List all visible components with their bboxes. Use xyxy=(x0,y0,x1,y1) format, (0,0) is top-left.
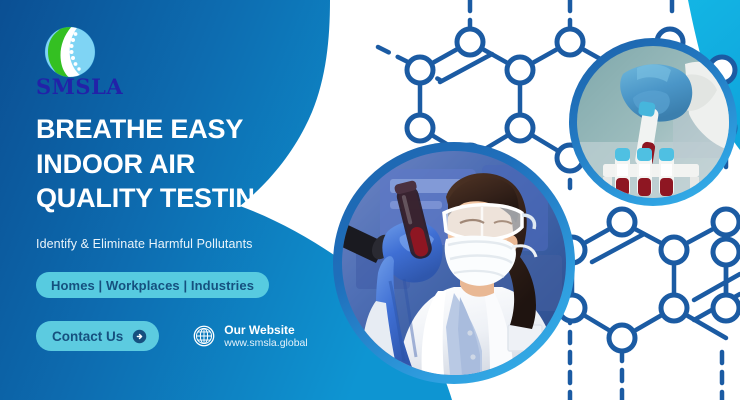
banner: SMSLA BREATHE EASY INDOOR AIR QUALITY TE… xyxy=(0,0,740,400)
contact-us-label: Contact Us xyxy=(52,329,123,344)
website-title: Our Website xyxy=(224,323,307,337)
headline-line-3: QUALITY TESTING xyxy=(36,181,336,216)
audience-badge: Homes | Workplaces | Industries xyxy=(36,272,269,298)
subtitle: Identify & Eliminate Harmful Pollutants xyxy=(36,237,253,251)
brand-logo[interactable]: SMSLA xyxy=(36,26,116,102)
scientist-illustration xyxy=(342,151,566,375)
content-column: SMSLA BREATHE EASY INDOOR AIR QUALITY TE… xyxy=(0,0,330,400)
main-photo-circle xyxy=(333,142,575,384)
smsla-spine-circle-logo-icon xyxy=(44,26,96,78)
secondary-photo-circle xyxy=(569,38,737,206)
website-block[interactable]: Our Website www.smsla.global xyxy=(193,323,307,350)
page-title: BREATHE EASY INDOOR AIR QUALITY TESTING xyxy=(36,112,336,216)
headline-line-1: BREATHE EASY xyxy=(36,112,336,147)
arrow-right-circle-icon xyxy=(132,329,147,344)
headline-line-2: INDOOR AIR xyxy=(36,147,336,182)
blood-sample-illustration xyxy=(577,46,729,198)
website-url: www.smsla.global xyxy=(224,337,307,349)
cta-row: Contact Us Our Website xyxy=(36,320,308,352)
brand-wordmark: SMSLA xyxy=(36,74,114,99)
audience-badge-label: Homes | Workplaces | Industries xyxy=(51,278,254,293)
contact-us-button[interactable]: Contact Us xyxy=(36,321,159,351)
globe-icon xyxy=(193,325,215,347)
